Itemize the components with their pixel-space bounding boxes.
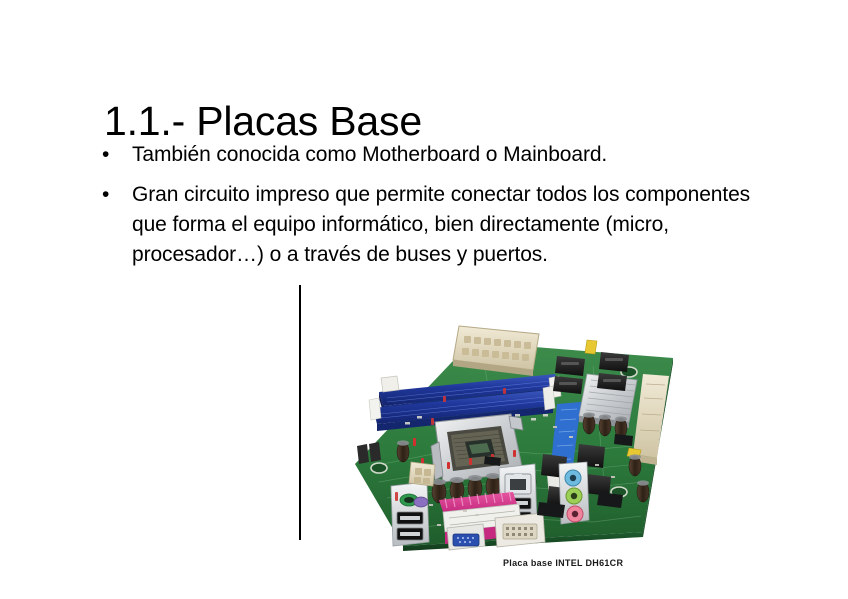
vga-port: [447, 524, 485, 550]
bullet-marker-icon: •: [98, 140, 132, 170]
page-title: 1.1.- Placas Base: [104, 97, 422, 145]
bullet-marker-icon: •: [98, 180, 132, 210]
motherboard-photo: [343, 296, 693, 554]
motherboard-figure: Placa base INTEL DH61CR: [343, 296, 693, 574]
cpu-power-connector: [409, 462, 435, 486]
list-item: • Gran circuito impreso que permite cone…: [98, 180, 778, 270]
slide-canvas: 1.1.- Placas Base • También conocida com…: [0, 0, 848, 599]
vertical-divider: [299, 285, 301, 540]
list-item: • También conocida como Motherboard o Ma…: [98, 140, 778, 170]
bullet-list: • También conocida como Motherboard o Ma…: [98, 140, 778, 280]
ps2-usb-port-block: [391, 482, 429, 546]
figure-caption: Placa base INTEL DH61CR: [503, 558, 623, 568]
bullet-text: Gran circuito impreso que permite conect…: [132, 180, 778, 270]
dvi-port: [495, 513, 545, 547]
bullet-text: También conocida como Motherboard o Main…: [132, 140, 778, 170]
motherboard-illustration: [343, 296, 693, 554]
